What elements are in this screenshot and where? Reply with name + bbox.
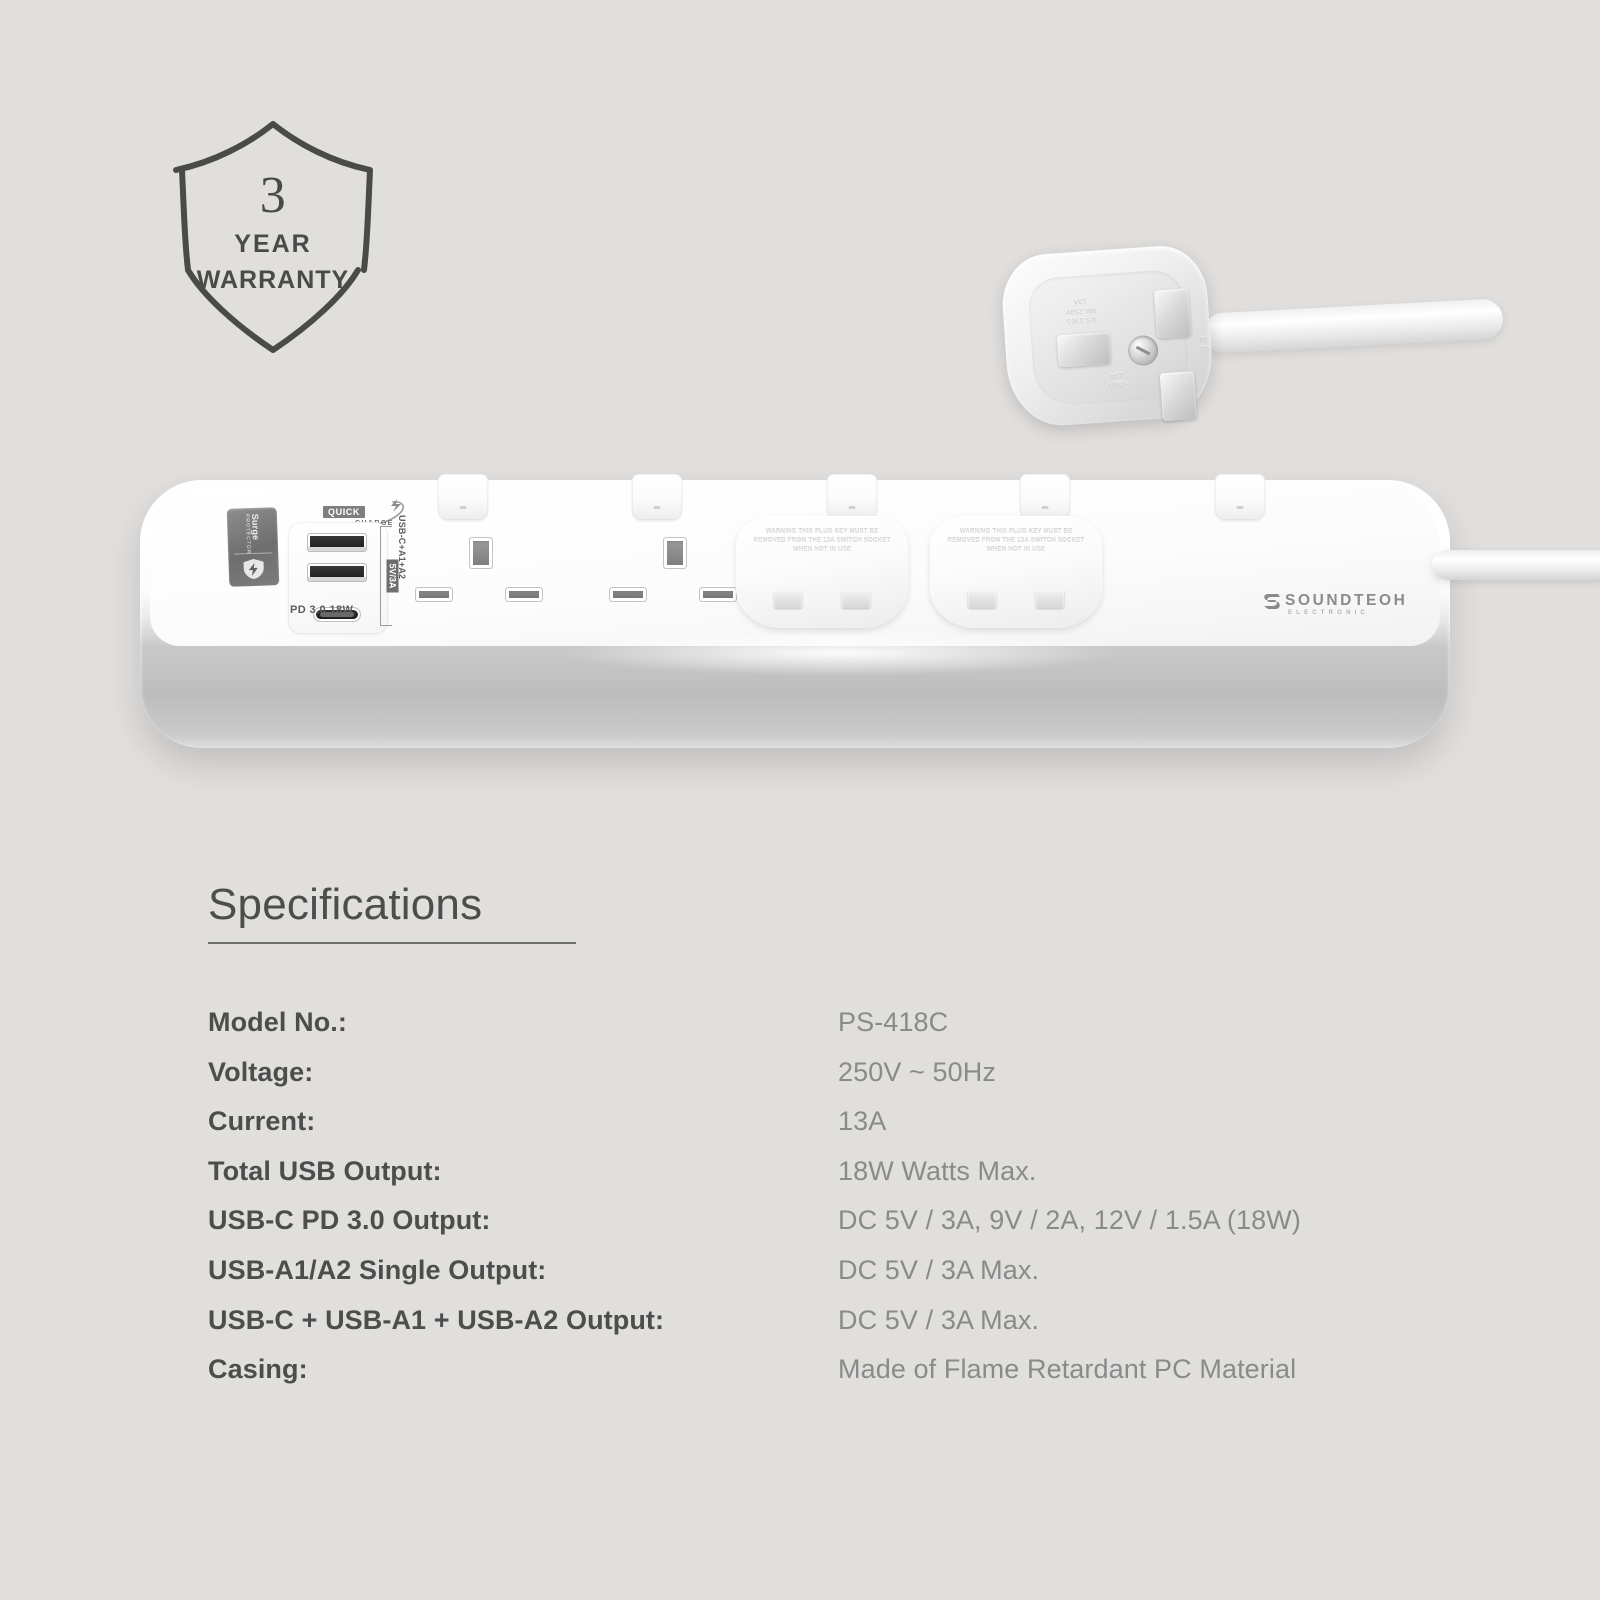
socket-neutral-slot bbox=[416, 588, 452, 601]
switch-rocker[interactable] bbox=[632, 474, 682, 520]
spec-value: DC 5V / 3A Max. bbox=[838, 1306, 1468, 1356]
surge-text-wrap: Surge PROTECTOR bbox=[227, 515, 280, 553]
plug-cover-pin bbox=[1036, 590, 1064, 608]
plug-cover-pin bbox=[968, 590, 996, 608]
spec-row: Total USB Output:18W Watts Max. bbox=[208, 1157, 1468, 1207]
socket-live-slot bbox=[506, 588, 542, 601]
specifications-title: Specifications bbox=[208, 880, 1468, 930]
brand-name: SOUNDTEOH bbox=[1285, 592, 1407, 610]
plug-standard-text: BS 1363 MK 250V 13A bbox=[1064, 295, 1097, 325]
spec-label: Total USB Output: bbox=[208, 1157, 838, 1207]
specifications-section: Specifications Model No.:PS-418CVoltage:… bbox=[208, 880, 1468, 1405]
uk-socket bbox=[402, 520, 562, 630]
plug-cable bbox=[1202, 298, 1504, 354]
plug-key-cover[interactable]: WARNING THIS PLUG KEY MUST BE REMOVED FR… bbox=[736, 516, 908, 628]
uk-socket bbox=[596, 520, 756, 630]
surge-label-sub: PROTECTOR bbox=[244, 514, 251, 554]
socket-earth-slot bbox=[664, 538, 686, 568]
plug-pin-earth bbox=[1154, 288, 1191, 338]
usb-a2-port bbox=[308, 564, 366, 581]
spec-label: Model No.: bbox=[208, 1008, 838, 1058]
plug-code-text: 91-14 bbox=[1197, 333, 1209, 353]
socket-earth-slot bbox=[470, 538, 492, 568]
spec-value: DC 5V / 3A, 9V / 2A, 12V / 1.5A (18W) bbox=[838, 1206, 1468, 1256]
shield-bolt-icon bbox=[241, 558, 266, 581]
plug-cover-warning-text: WARNING THIS PLUG KEY MUST BE REMOVED FR… bbox=[944, 528, 1088, 555]
surge-label-main: Surge bbox=[250, 514, 261, 541]
plug-key-cover[interactable]: WARNING THIS PLUG KEY MUST BE REMOVED FR… bbox=[930, 516, 1102, 628]
spec-row: Current:13A bbox=[208, 1107, 1468, 1157]
plug-screw bbox=[1127, 335, 1159, 367]
uk-plug: BS 1363 MK 250V 13A ~250V 13A 91-14 bbox=[995, 238, 1245, 438]
quick-charge-quick: QUICK bbox=[323, 506, 365, 518]
plug-rating-text: ~250V 13A bbox=[1105, 369, 1128, 389]
plug-pin-neutral bbox=[1057, 332, 1111, 368]
specifications-table: Model No.:PS-418CVoltage:250V ~ 50HzCurr… bbox=[208, 1008, 1468, 1405]
spec-row: Model No.:PS-418C bbox=[208, 1008, 1468, 1058]
spec-label: USB-A1/A2 Single Output: bbox=[208, 1256, 838, 1306]
switch-rocker[interactable] bbox=[827, 474, 877, 520]
spec-value: Made of Flame Retardant PC Material bbox=[838, 1355, 1468, 1405]
spec-value: PS-418C bbox=[838, 1008, 1468, 1058]
product-photo: BS 1363 MK 250V 13A ~250V 13A 91-14 Surg… bbox=[0, 200, 1600, 820]
plug-cover-pin bbox=[842, 590, 870, 608]
usb-side-rating: 5V/3A bbox=[387, 559, 399, 592]
socket-live-slot bbox=[700, 588, 736, 601]
switch-rocker[interactable] bbox=[1215, 474, 1265, 520]
spec-row: USB-C + USB-A1 + USB-A2 Output:DC 5V / 3… bbox=[208, 1306, 1468, 1356]
usb-pd-label: PD 3.0 18W bbox=[290, 604, 353, 616]
brand-logo: SOUNDTEOH ELECTRONIC bbox=[1262, 590, 1412, 622]
switch-rocker[interactable] bbox=[438, 474, 488, 520]
spec-label: Current: bbox=[208, 1107, 838, 1157]
power-strip-body: Surge PROTECTOR QUICK CHARGE bbox=[140, 480, 1450, 748]
spec-value: 13A bbox=[838, 1107, 1468, 1157]
plug-cover-pin bbox=[774, 590, 802, 608]
strip-gloss-highlight bbox=[560, 630, 1120, 676]
usb-a1-port bbox=[308, 534, 366, 551]
specifications-rule bbox=[208, 942, 576, 944]
spec-label: Voltage: bbox=[208, 1058, 838, 1108]
plug-pin-live bbox=[1160, 371, 1197, 421]
spec-row: Casing:Made of Flame Retardant PC Materi… bbox=[208, 1355, 1468, 1405]
spec-value: 250V ~ 50Hz bbox=[838, 1058, 1468, 1108]
usb-port-cluster bbox=[288, 522, 388, 634]
brand-subtitle: ELECTRONIC bbox=[1288, 610, 1369, 616]
socket-neutral-slot bbox=[610, 588, 646, 601]
plug-body: BS 1363 MK 250V 13A ~250V 13A 91-14 bbox=[999, 243, 1215, 429]
spec-value: DC 5V / 3A Max. bbox=[838, 1256, 1468, 1306]
spec-value: 18W Watts Max. bbox=[838, 1157, 1468, 1207]
brand-s-mark-icon bbox=[1262, 592, 1281, 611]
spec-row: USB-C PD 3.0 Output:DC 5V / 3A, 9V / 2A,… bbox=[208, 1206, 1468, 1256]
strip-output-cable bbox=[1432, 550, 1600, 580]
spec-label: Casing: bbox=[208, 1355, 838, 1405]
spec-label: USB-C PD 3.0 Output: bbox=[208, 1206, 838, 1256]
switch-rocker[interactable] bbox=[1020, 474, 1070, 520]
surge-label: Surge PROTECTOR bbox=[244, 514, 261, 555]
surge-divider bbox=[234, 552, 272, 554]
surge-protector-badge: Surge PROTECTOR bbox=[227, 507, 280, 587]
spec-row: USB-A1/A2 Single Output:DC 5V / 3A Max. bbox=[208, 1256, 1468, 1306]
spec-row: Voltage:250V ~ 50Hz bbox=[208, 1058, 1468, 1108]
plug-cover-warning-text: WARNING THIS PLUG KEY MUST BE REMOVED FR… bbox=[750, 528, 894, 555]
spec-label: USB-C + USB-A1 + USB-A2 Output: bbox=[208, 1306, 838, 1356]
plug-inner-face: BS 1363 MK 250V 13A ~250V 13A 91-14 bbox=[1027, 269, 1191, 408]
